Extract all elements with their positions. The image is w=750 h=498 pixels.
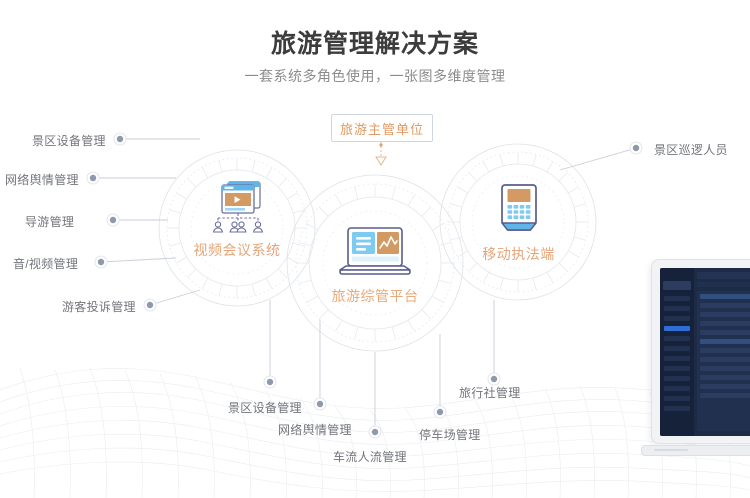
laptop-screen-dashboard [660,268,750,436]
leaf-right-1[interactable]: 景区巡逻人员 [654,141,728,158]
leaf-left-1[interactable]: 景区设备管理 [32,132,106,149]
leaf-bottom-2[interactable]: 网络舆情管理 [278,421,352,438]
page-title: 旅游管理解决方案 [0,24,750,60]
laptop-dashboard-icon [336,226,414,280]
leaf-bottom-3[interactable]: 车流人流管理 [333,448,407,465]
leaf-bottom-5[interactable]: 旅行社管理 [459,384,521,401]
node-video-conference[interactable]: 视频会议系统 [177,180,297,260]
laptop-mockup [651,259,750,469]
node-mobile-enforcement-label: 移动执法端 [461,244,576,264]
dashboard-sidebar [660,268,694,436]
dashboard-tree-panel [697,291,750,431]
node-tourism-platform-label: 旅游综管平台 [315,286,435,306]
background-mesh-pattern [0,328,750,498]
page-subtitle: 一套系统多角色使用，一张图多维度管理 [0,66,750,86]
leaf-bottom-4[interactable]: 停车场管理 [419,426,481,443]
video-conference-icon [206,180,268,234]
authority-unit-label: 旅游主管单位 [340,119,424,138]
leaf-bottom-1[interactable]: 景区设备管理 [228,399,302,416]
laptop-lid [651,259,750,444]
node-tourism-platform[interactable]: 旅游综管平台 [315,226,435,306]
leaf-left-5[interactable]: 游客投诉管理 [62,298,136,315]
handheld-device-icon [497,182,541,238]
leaf-left-2[interactable]: 网络舆情管理 [5,171,79,188]
solution-diagram-page: 旅游管理解决方案 一套系统多角色使用，一张图多维度管理 [0,0,750,498]
node-video-conference-label: 视频会议系统 [177,240,297,260]
dashboard-main [694,268,750,436]
laptop-base [641,445,750,456]
leaf-left-3[interactable]: 导游管理 [25,213,74,230]
node-mobile-enforcement[interactable]: 移动执法端 [461,182,576,264]
authority-unit-box[interactable]: 旅游主管单位 [331,114,433,142]
leaf-left-4[interactable]: 音/视频管理 [13,255,78,272]
